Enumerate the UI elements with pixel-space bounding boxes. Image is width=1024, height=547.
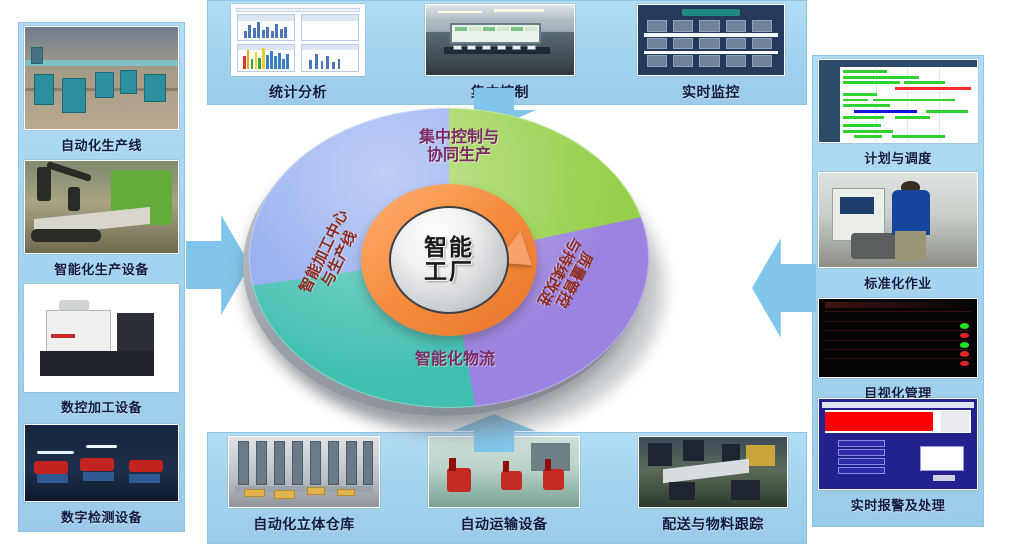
left-item-3[interactable]: 数字检测设备 [24, 424, 179, 526]
top-item-2-label: 实时监控 [682, 82, 740, 102]
center-title-line1: 智能 [424, 236, 474, 260]
arrow-right-to-center [752, 238, 816, 338]
left-item-2-label: 数控加工设备 [61, 397, 142, 416]
right-item-3[interactable]: 实时报警及处理 [818, 398, 978, 514]
left-item-1[interactable]: 智能化生产设备 [24, 160, 179, 278]
left-item-0[interactable]: 自动化生产线 [24, 26, 179, 154]
top-item-2[interactable]: 实时监控 [637, 4, 785, 102]
thumbnail-central-control[interactable] [425, 4, 575, 76]
thumbnail-material-tracking[interactable] [638, 436, 788, 508]
left-item-3-label: 数字检测设备 [61, 507, 142, 526]
diagram-canvas: 统计分析 集中控制 [0, 0, 1024, 547]
top-item-0-label: 统计分析 [269, 82, 327, 102]
bottom-item-2[interactable]: 配送与物料跟踪 [638, 436, 788, 534]
wheel-segment-bottom-label: 智能化物流 [355, 350, 555, 368]
right-item-2[interactable]: 目视化管理 [818, 298, 978, 402]
thumbnail-realtime-monitoring[interactable] [637, 4, 785, 76]
bottom-item-0[interactable]: 自动化立体仓库 [228, 436, 380, 534]
thumbnail-automated-warehouse[interactable] [228, 436, 380, 508]
bottom-item-0-label: 自动化立体仓库 [253, 514, 355, 534]
bottom-item-1-label: 自动运输设备 [461, 514, 548, 534]
hub-center: 智能 工厂 [389, 206, 509, 314]
thumbnail-realtime-alarm[interactable] [818, 398, 978, 490]
center-title-line2: 工厂 [424, 260, 474, 284]
arrow-left-to-center [186, 215, 250, 315]
top-item-1[interactable]: 集中控制 [425, 4, 575, 102]
thumbnail-automated-line[interactable] [24, 26, 179, 130]
central-wheel: 集中控制与 协同生产 质量管控 与持续改进 智能化物流 智能加工中心 与生产线 … [243, 108, 663, 438]
right-item-1[interactable]: 标准化作业 [818, 172, 978, 292]
right-item-0-label: 计划与调度 [864, 148, 932, 167]
bottom-item-2-label: 配送与物料跟踪 [662, 514, 764, 534]
thumbnail-digital-inspection[interactable] [24, 424, 179, 502]
right-item-1-label: 标准化作业 [864, 273, 932, 292]
thumbnail-planning-scheduling[interactable] [818, 59, 978, 143]
thumbnail-smart-equipment[interactable] [24, 160, 179, 254]
thumbnail-standard-work[interactable] [818, 172, 978, 268]
left-item-1-label: 智能化生产设备 [54, 259, 149, 278]
left-item-0-label: 自动化生产线 [61, 135, 142, 154]
thumbnail-cnc-machine[interactable] [24, 284, 179, 392]
thumbnail-statistics[interactable] [231, 4, 365, 76]
top-item-0[interactable]: 统计分析 [228, 4, 368, 102]
thumbnail-visual-management[interactable] [818, 298, 978, 378]
right-item-3-label: 实时报警及处理 [851, 495, 946, 514]
right-item-0[interactable]: 计划与调度 [818, 59, 978, 167]
left-item-2[interactable]: 数控加工设备 [24, 284, 179, 416]
wheel-segment-top-label: 集中控制与 协同生产 [369, 128, 549, 165]
